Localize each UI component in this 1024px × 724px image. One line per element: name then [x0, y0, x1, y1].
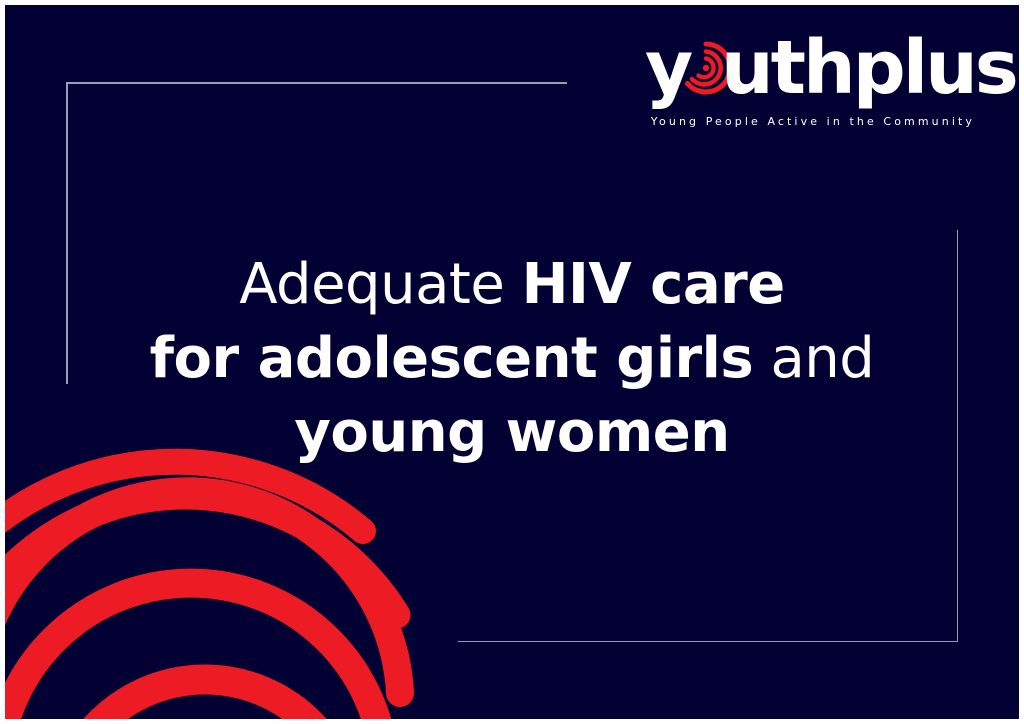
title-line-1-regular: Adequate [239, 252, 521, 317]
slide-canvas: y uthplus Young People Active in the Com… [0, 0, 1024, 724]
title-line-2-bold: for adolescent girls [150, 326, 754, 391]
title-line-3-bold: young women [294, 400, 729, 465]
title-line-1-bold: HIV care [522, 252, 785, 317]
title-line-2-regular: and [753, 326, 874, 391]
youthplus-logo: y uthplus Young People Active in the Com… [645, 27, 975, 127]
title-line-1: Adequate HIV care [5, 248, 1019, 322]
title-line-2: for adolescent girls and [5, 322, 1019, 396]
bracket-horizontal-line [458, 641, 958, 643]
logo-wordmark: y uthplus [645, 27, 975, 109]
page-title: Adequate HIV care for adolescent girls a… [5, 248, 1019, 470]
logo-tagline: Young People Active in the Community [645, 116, 975, 127]
logo-wordmark-rest: uthplus [721, 27, 1016, 109]
title-line-3: young women [5, 396, 1019, 470]
bracket-horizontal-line [66, 82, 567, 84]
slide-background: y uthplus Young People Active in the Com… [5, 5, 1019, 719]
